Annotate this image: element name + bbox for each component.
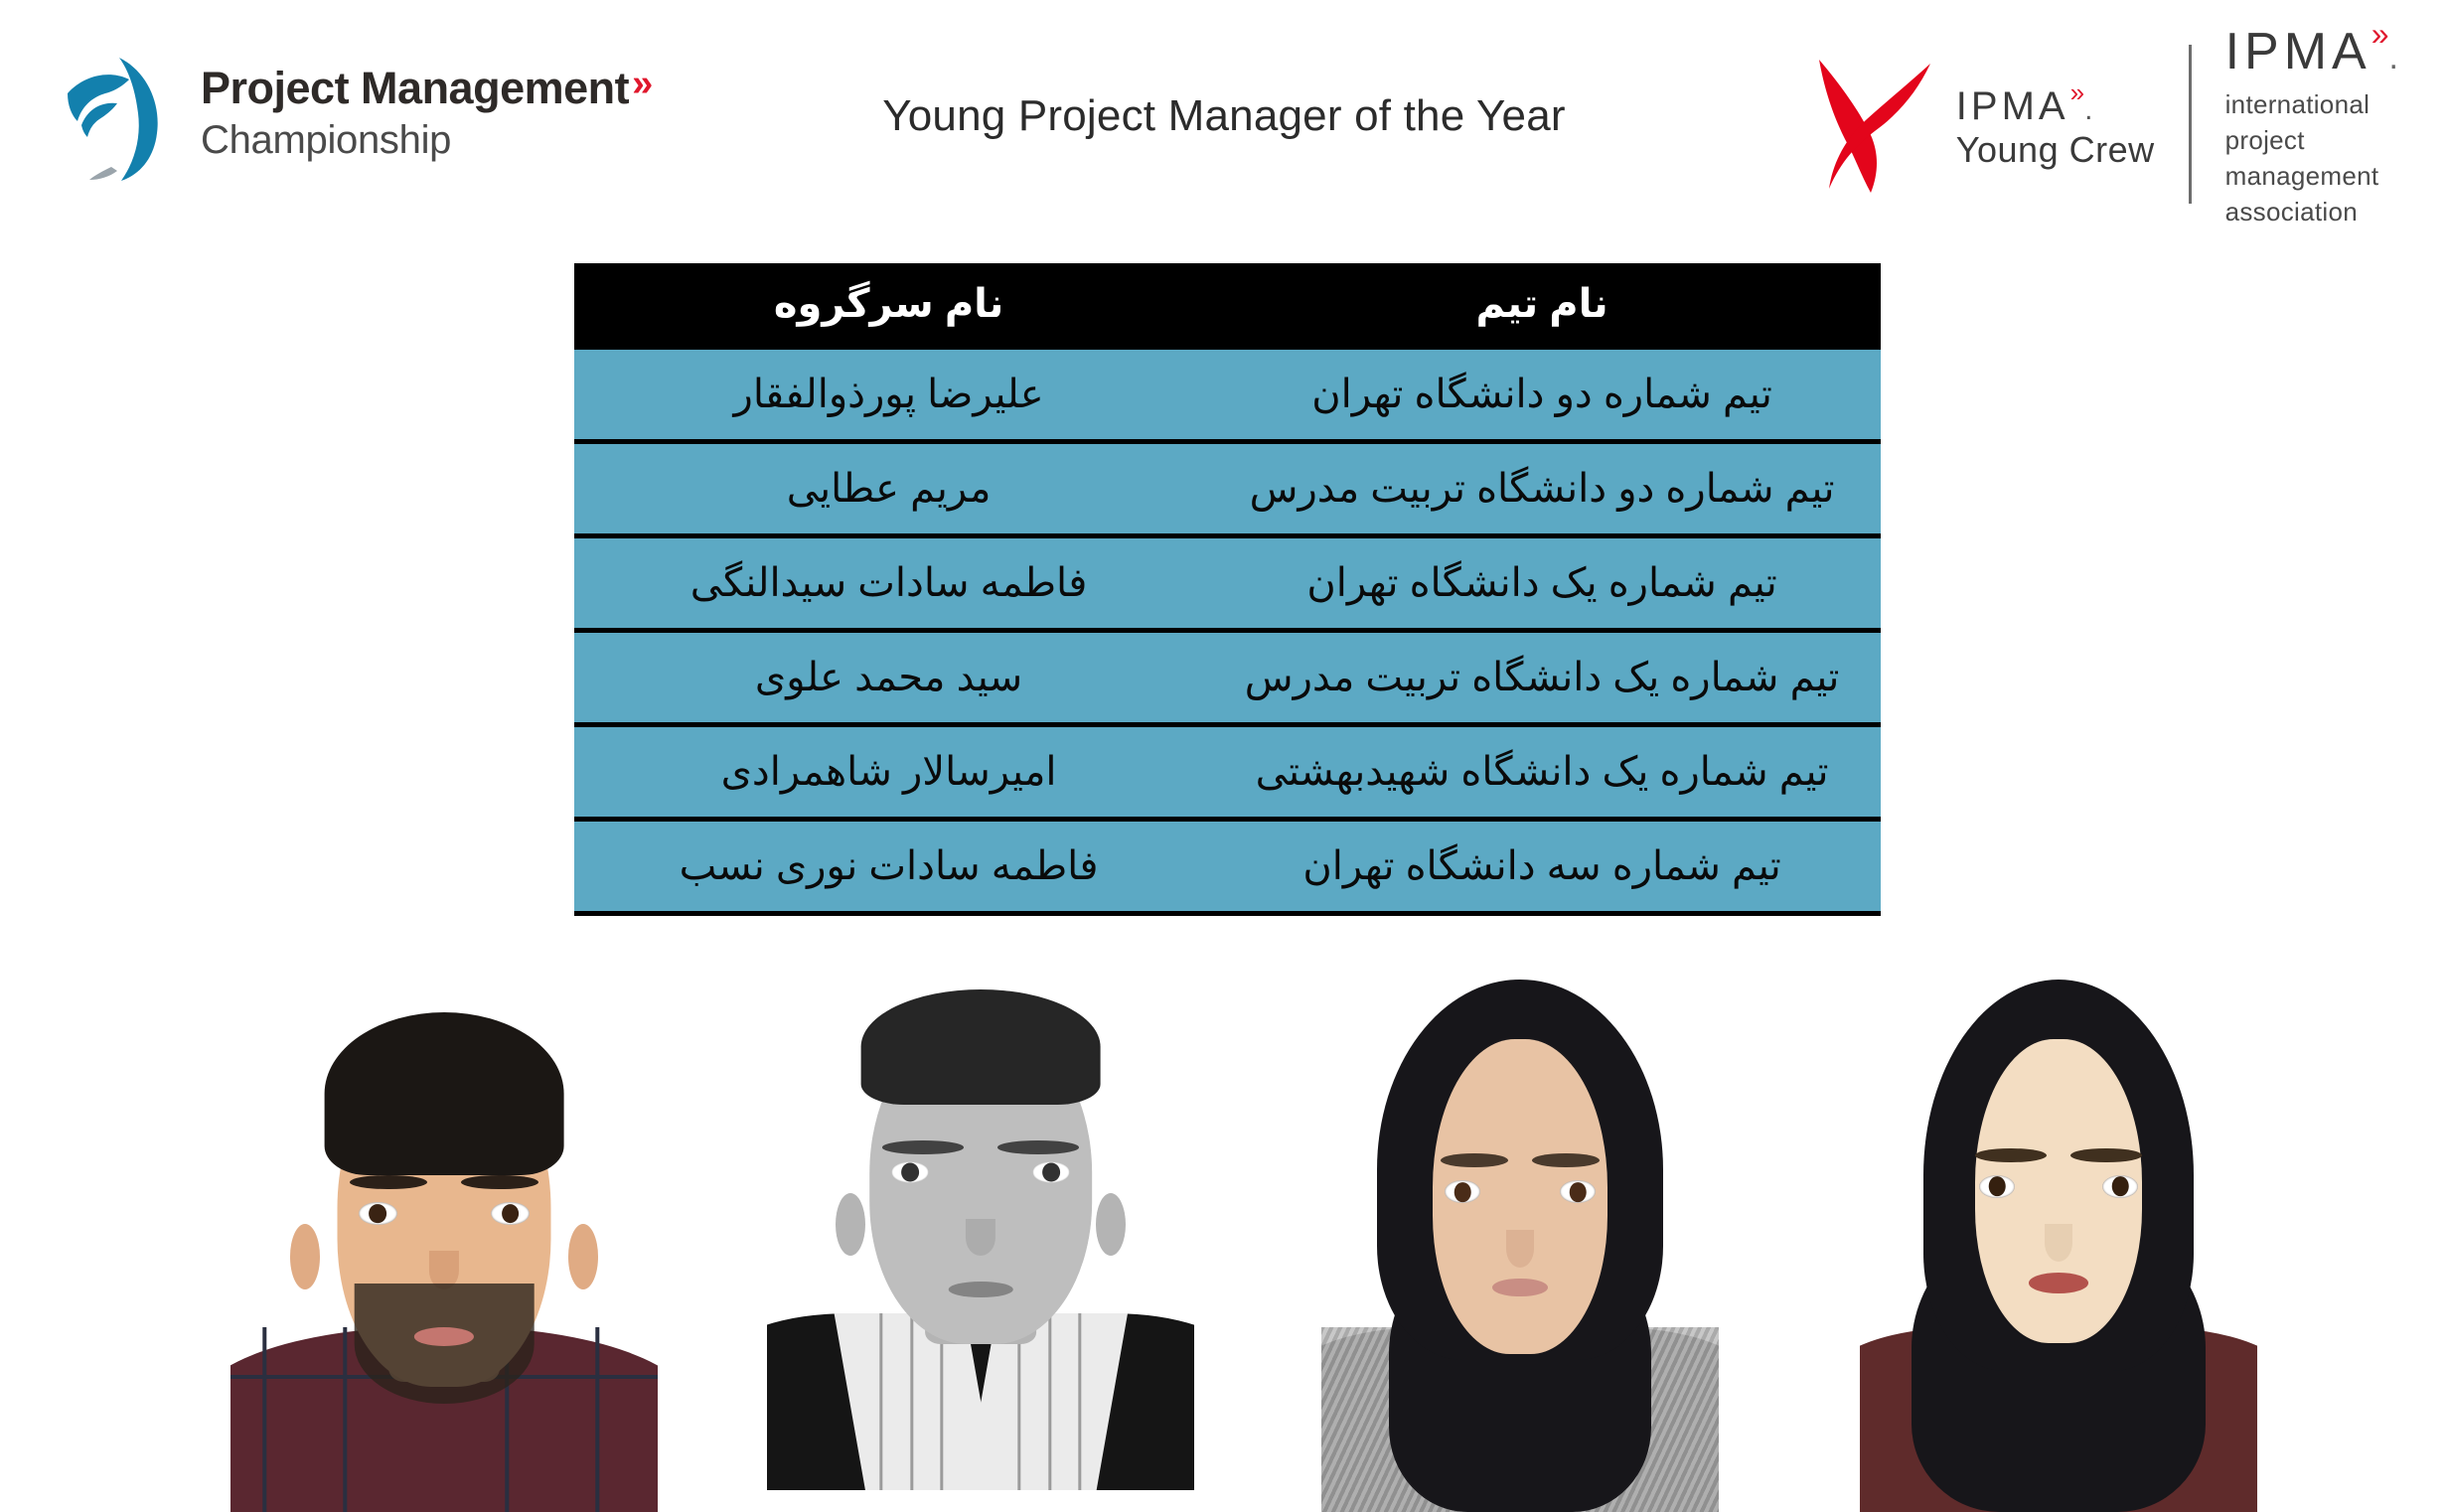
cell-team-name: تیم شماره دو دانشگاه تهران [1203, 348, 1881, 442]
ipma-sub-line-3: management [2225, 159, 2398, 195]
table-row: تیم شماره یک دانشگاه شهیدبهشتی امیرسالار… [574, 725, 1881, 820]
table-row: تیم شماره دو دانشگاه تهران علیرضا پورذوا… [574, 348, 1881, 442]
table-row: تیم شماره دو دانشگاه تربیت مدرس مریم عطا… [574, 442, 1881, 536]
cell-leader-name: علیرضا پورذوالفقار [574, 348, 1203, 442]
table-row: تیم شماره سه دانشگاه تهران فاطمه سادات ن… [574, 820, 1881, 914]
portrait-photo-1 [230, 969, 658, 1512]
cell-team-name: تیم شماره یک دانشگاه تربیت مدرس [1203, 631, 1881, 725]
table-row: تیم شماره یک دانشگاه تربیت مدرس سید محمد… [574, 631, 1881, 725]
portrait-photo-strip [0, 969, 2448, 1512]
portrait-photo-3 [1321, 969, 1719, 1512]
portrait-photo-4 [1860, 969, 2257, 1512]
ipma-association-logo: IPMA». international project management … [2192, 18, 2398, 230]
yc-chevron-icon: » [2070, 77, 2084, 107]
portrait-photo-2 [767, 969, 1194, 1490]
table-header-row: نام تیم نام سرگروه [574, 263, 1881, 348]
page-header: Project Management» Championship Young P… [0, 0, 2448, 233]
ipma-text: IPMA [2225, 23, 2371, 80]
cell-team-name: تیم شماره دو دانشگاه تربیت مدرس [1203, 442, 1881, 536]
cell-team-name: تیم شماره یک دانشگاه شهیدبهشتی [1203, 725, 1881, 820]
ipma-chevron-icon: » [2371, 16, 2389, 52]
ipma-sub-line-1: international [2225, 87, 2398, 123]
ipma-subtitle-block: international project management associa… [2225, 87, 2398, 230]
ipma-sub-line-2: project [2225, 123, 2398, 159]
cell-team-name: تیم شماره سه دانشگاه تهران [1203, 820, 1881, 914]
column-header-leader: نام سرگروه [574, 263, 1203, 348]
cell-leader-name: مریم عطایی [574, 442, 1203, 536]
cell-team-name: تیم شماره یک دانشگاه تهران [1203, 536, 1881, 631]
ipma-young-crew-logo: IPMA». Young Crew [1813, 50, 2189, 199]
young-crew-wordmark: IPMA». Young Crew [1956, 79, 2155, 169]
yc-dot-icon: . [2084, 93, 2092, 126]
cell-leader-name: فاطمه سادات نوری نسب [574, 820, 1203, 914]
cell-leader-name: سید محمد علوی [574, 631, 1203, 725]
cell-leader-name: امیرسالار شاهمرادی [574, 725, 1203, 820]
yc-ipma-text: IPMA [1956, 84, 2069, 128]
table-row: تیم شماره یک دانشگاه تهران فاطمه سادات س… [574, 536, 1881, 631]
ipma-sub-line-4: association [2225, 195, 2398, 230]
ipma-dot-icon: . [2389, 39, 2398, 76]
teams-table: نام تیم نام سرگروه تیم شماره دو دانشگاه … [574, 263, 1881, 916]
young-crew-x-icon [1813, 50, 1942, 199]
young-crew-subtitle: Young Crew [1956, 131, 2155, 169]
column-header-team: نام تیم [1203, 263, 1881, 348]
page-title-text: Young Project Manager of the Year [882, 91, 1565, 140]
ipma-logo-group: IPMA». Young Crew IPMA». international p… [1813, 40, 2398, 209]
cell-leader-name: فاطمه سادات سیدالنگی [574, 536, 1203, 631]
